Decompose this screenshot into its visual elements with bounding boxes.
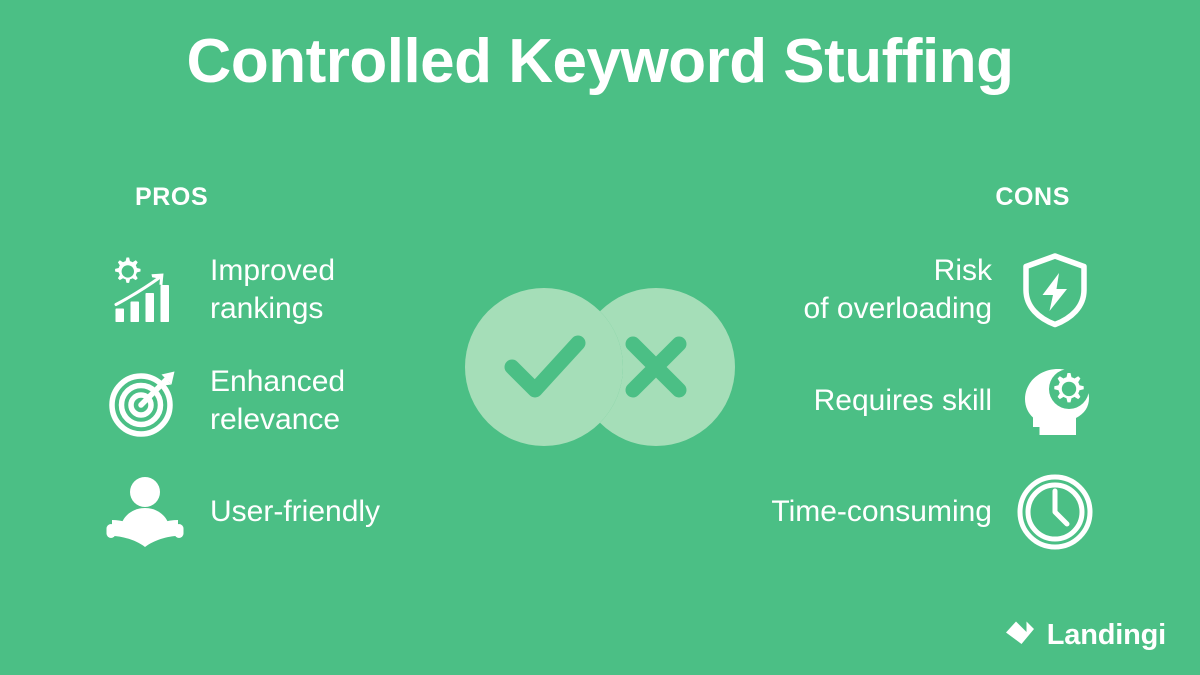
shield-bolt-icon xyxy=(1014,249,1096,331)
person-reading-book-icon xyxy=(104,471,186,553)
cons-item-label: Time-consuming xyxy=(771,493,992,531)
pros-item-label: Improved rankings xyxy=(210,252,335,329)
cons-item-requires-skill: Requires skill xyxy=(814,355,1096,447)
verdict-emblem xyxy=(455,285,745,450)
target-dart-icon xyxy=(104,360,186,442)
check-circle-icon xyxy=(465,288,623,446)
landingi-logo: Landingi xyxy=(1004,618,1166,653)
landingi-diamond-icon xyxy=(1004,618,1036,653)
landingi-logo-text: Landingi xyxy=(1047,619,1166,652)
pros-item-label: User-friendly xyxy=(210,493,380,531)
pros-item-improved-rankings: Improved rankings xyxy=(104,244,335,336)
cons-item-risk-of-overloading: Risk of overloading xyxy=(804,244,1096,336)
infographic-slide: Controlled Keyword Stuffing PROS CONS xyxy=(0,0,1200,675)
head-gear-icon xyxy=(1014,360,1096,442)
growth-chart-gear-icon xyxy=(104,249,186,331)
cons-item-time-consuming: Time-consuming xyxy=(771,466,1096,558)
page-title: Controlled Keyword Stuffing xyxy=(0,26,1200,97)
pros-heading: PROS xyxy=(135,183,208,212)
pros-item-user-friendly: User-friendly xyxy=(104,466,380,558)
clock-icon xyxy=(1014,471,1096,553)
pros-item-label: Enhanced relevance xyxy=(210,363,345,440)
cons-item-label: Risk of overloading xyxy=(804,252,992,329)
cons-item-label: Requires skill xyxy=(814,382,992,420)
pros-item-enhanced-relevance: Enhanced relevance xyxy=(104,355,345,447)
cons-heading: CONS xyxy=(995,183,1070,212)
